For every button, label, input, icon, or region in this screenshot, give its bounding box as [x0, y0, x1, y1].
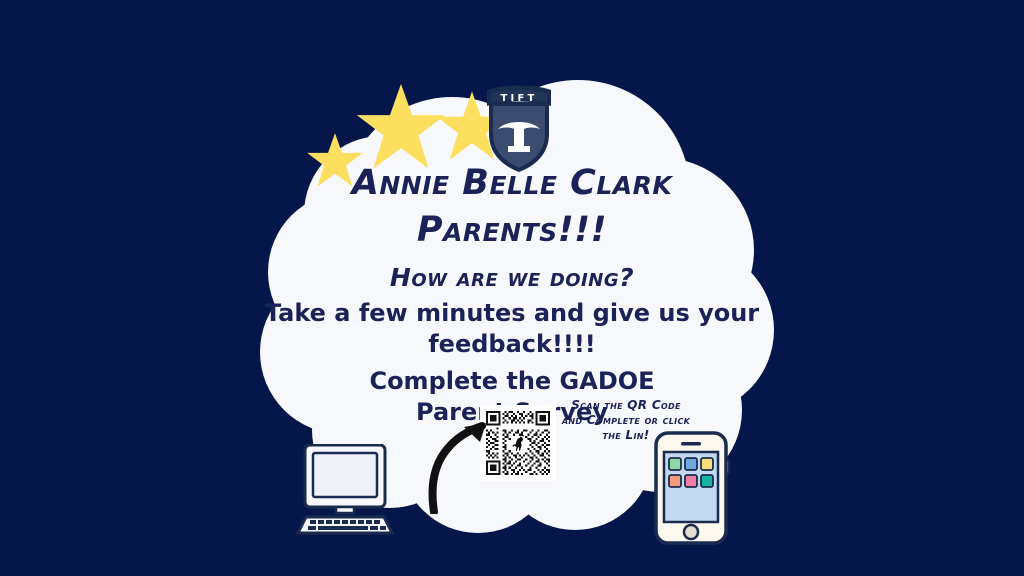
- desktop-computer-icon: [292, 444, 398, 536]
- poster-canvas: TIFT Annie Belle Clark Parents!!! How ar…: [0, 0, 1024, 576]
- poster-text-block: Annie Belle Clark Parents!!! How are we …: [252, 160, 772, 428]
- qr-caption-line-2: and Complete or click: [556, 413, 696, 428]
- curved-arrow-icon: [424, 414, 494, 514]
- body-line-2: feedback!!!!: [252, 329, 772, 360]
- page-title-line-2: Parents!!!: [252, 206, 772, 254]
- body-line-1: Take a few minutes and give us your: [252, 298, 772, 329]
- smartphone-icon: [650, 430, 734, 546]
- page-title-line-1: Annie Belle Clark: [252, 160, 772, 206]
- tift-banner-text: TIFT: [501, 93, 538, 104]
- subheading: How are we doing?: [252, 258, 772, 298]
- qr-caption-line-1: Scan the QR Code: [556, 398, 696, 413]
- body-line-3: Complete the GADOE: [252, 366, 772, 397]
- rooster-icon: [511, 435, 525, 452]
